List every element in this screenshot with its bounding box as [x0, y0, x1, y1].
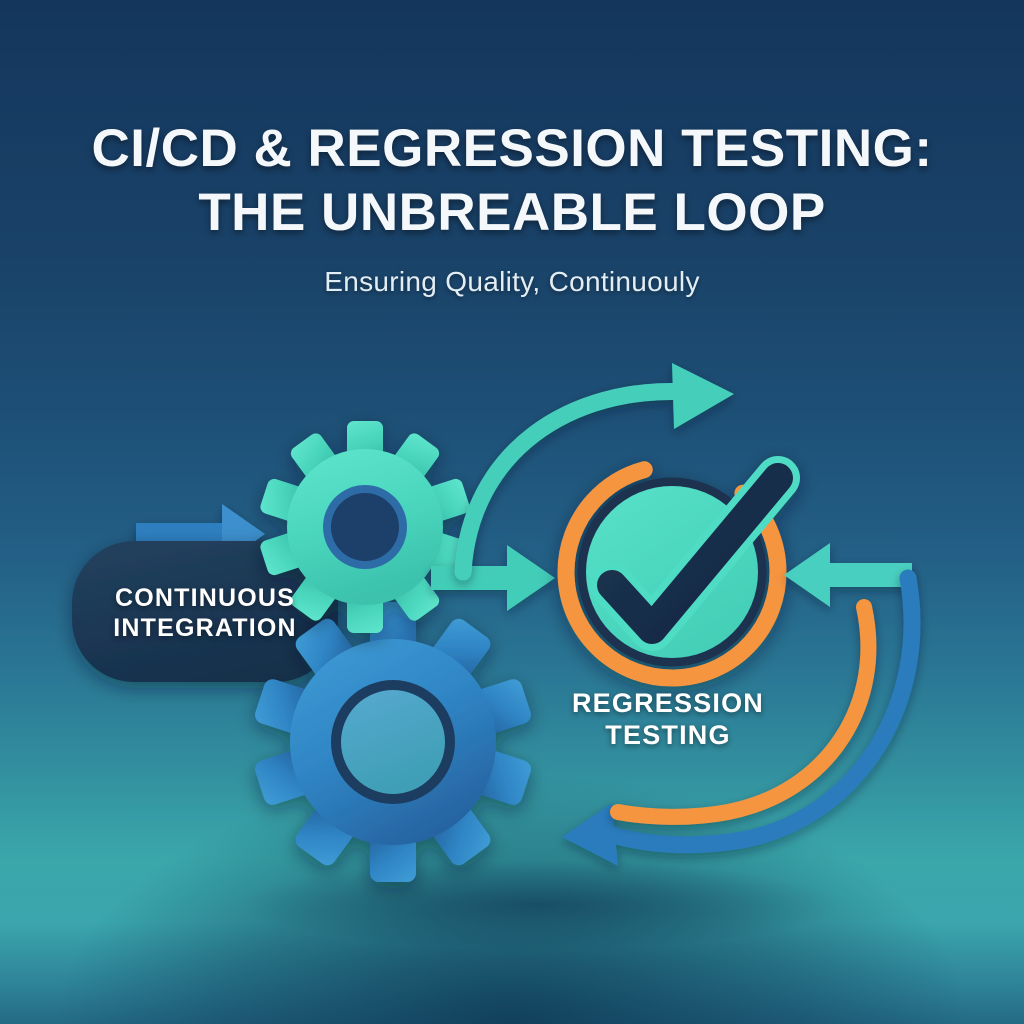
poster-canvas: CI/CD & REGRESSION TESTING: THE UNBREABL… — [0, 0, 1024, 1024]
diagram-artwork — [0, 0, 1024, 1024]
arrow-into-rt — [784, 543, 912, 607]
regression-testing-node[interactable] — [522, 422, 821, 721]
